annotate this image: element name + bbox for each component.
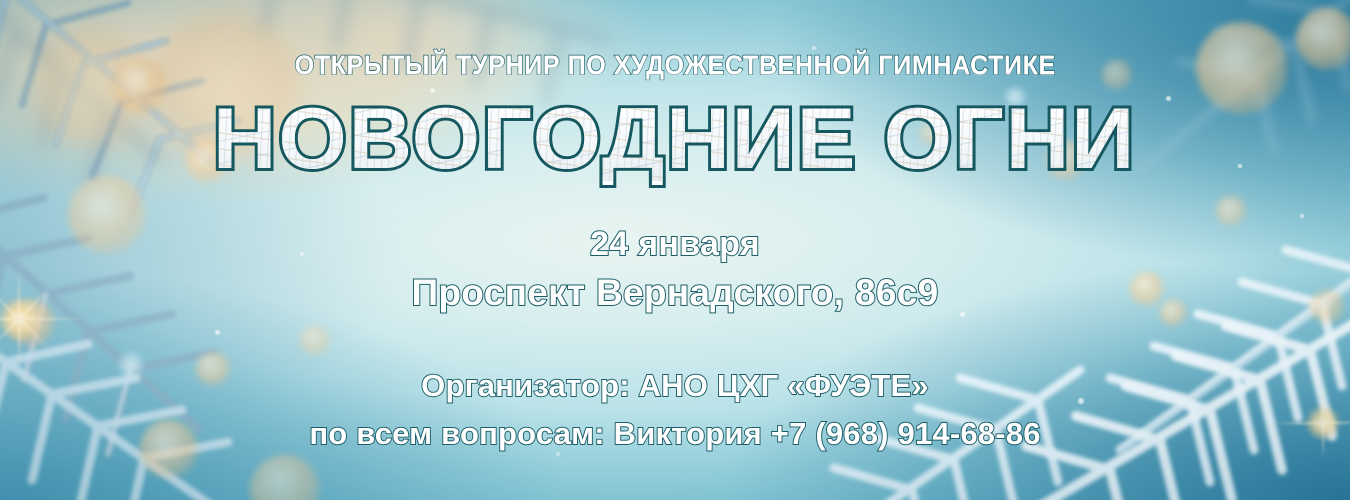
contact-block: Организатор: АНО ЦХГ «ФУЭТЕ» по всем воп…: [309, 368, 1040, 452]
poster-content: ОТКРЫТЫЙ ТУРНИР ПО ХУДОЖЕСТВЕННОЙ ГИМНАС…: [0, 0, 1350, 500]
poster-title: НОВОГОДНИЕ ОГНИ НОВОГОДНИЕ ОГНИ: [213, 97, 1136, 181]
organizer-line: Организатор: АНО ЦХГ «ФУЭТЕ»: [421, 368, 929, 404]
event-address: Проспект Вернадского, 86с9: [412, 272, 939, 314]
poster-title-text: НОВОГОДНИЕ ОГНИ: [213, 91, 1136, 187]
poster-banner: ОТКРЫТЫЙ ТУРНИР ПО ХУДОЖЕСТВЕННОЙ ГИМНАС…: [0, 0, 1350, 500]
contact-line: по всем вопросам: Виктория +7 (968) 914-…: [309, 416, 1040, 452]
poster-subtitle: ОТКРЫТЫЙ ТУРНИР ПО ХУДОЖЕСТВЕННОЙ ГИМНАС…: [294, 50, 1055, 81]
event-details: 24 января Проспект Вернадского, 86с9: [412, 225, 939, 314]
event-date: 24 января: [590, 225, 760, 264]
